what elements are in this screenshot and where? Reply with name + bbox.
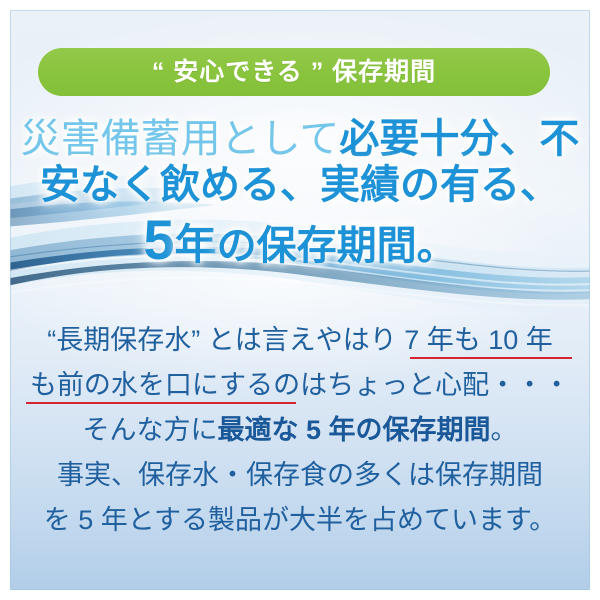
body-line-3-prefix: そんな方に: [82, 415, 217, 445]
headline-line-2-bold: 安なく飲める、実績の有る、: [40, 163, 560, 207]
section-title-text: “ 安心できる ” 保存期間: [152, 60, 436, 85]
red-underline-2: [26, 402, 296, 404]
red-underline-1: [410, 357, 572, 359]
body-line-1-text: “長期保存水” とは言えやはり 7 年も 10 年: [47, 325, 553, 355]
body-line-2: も前の水を口にするのはちょっと心配・・・: [0, 363, 600, 408]
body-line-3-suffix: 。: [491, 415, 518, 445]
body-line-4: 事実、保存水・保存食の多くは保存期間: [0, 453, 600, 498]
headline-line-2: 安なく飲める、実績の有る、: [0, 164, 600, 206]
body-line-5: を 5 年とする製品が大半を占めています。: [0, 498, 600, 543]
headline-line-3: 5年の保存期間。: [0, 210, 600, 269]
body-line-5-text: を 5 年とする製品が大半を占めています。: [44, 505, 557, 535]
body-line-3-emphasis: 最適な 5 年の保存期間: [217, 415, 490, 445]
headline-line-1-bold: 必要十分、不: [339, 117, 579, 161]
headline-line-1-light: 災害備蓄用として: [21, 117, 340, 161]
body-line-3: そんな方に最適な 5 年の保存期間。: [0, 408, 600, 453]
headline-block: 災害備蓄用として必要十分、不 安なく飲める、実績の有る、 5年の保存期間。: [0, 118, 600, 269]
body-paragraph: “長期保存水” とは言えやはり 7 年も 10 年 も前の水を口にするのはちょっ…: [0, 318, 600, 543]
headline-number-5: 5: [143, 208, 174, 271]
headline-unit-year: 年: [175, 221, 217, 268]
section-title-pill: “ 安心できる ” 保存期間: [38, 48, 550, 96]
promo-banner: “ 安心できる ” 保存期間 災害備蓄用として必要十分、不 安なく飲める、実績の…: [0, 0, 600, 600]
body-line-4-text: 事実、保存水・保存食の多くは保存期間: [57, 460, 543, 490]
body-line-2-text: も前の水を口にするのはちょっと心配・・・: [30, 370, 570, 400]
body-line-1: “長期保存水” とは言えやはり 7 年も 10 年: [0, 318, 600, 363]
headline-line-1: 災害備蓄用として必要十分、不: [0, 118, 600, 160]
headline-line-3-rest: の保存期間。: [217, 224, 457, 268]
